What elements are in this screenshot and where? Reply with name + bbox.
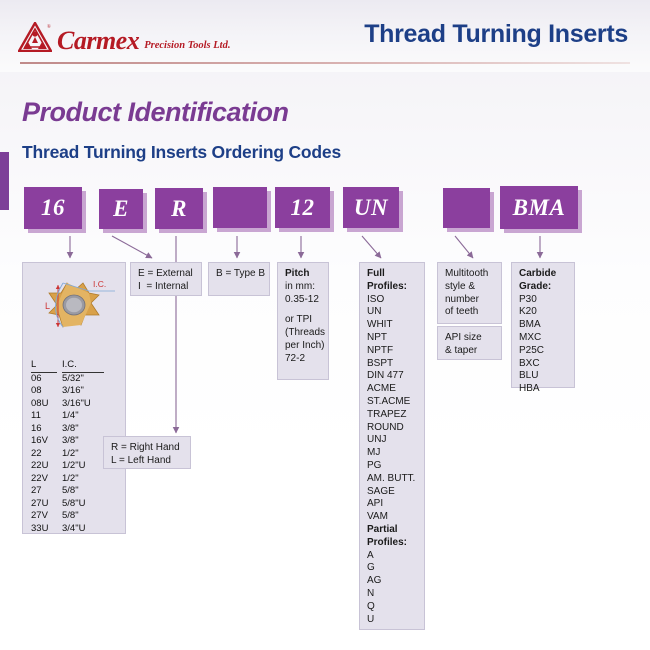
- full-profile-item: UNJ: [367, 434, 418, 447]
- pitch-title: Pitch: [285, 268, 322, 281]
- typeb-line: B = Type B: [216, 268, 263, 281]
- full-profile-item: ISO: [367, 294, 418, 307]
- code-box-profile[interactable]: UN: [343, 187, 399, 228]
- size-table-cell-l: 11: [31, 410, 62, 423]
- carmex-triangle-logo-icon: ®: [18, 22, 52, 52]
- size-table-cell-l: 22V: [31, 473, 62, 486]
- full-profile-item: PG: [367, 460, 418, 473]
- size-table-cell-ic: 3/8": [62, 423, 114, 436]
- profiles-title-partial-1: Partial: [367, 524, 418, 537]
- hand-line-right: R = Right Hand: [111, 442, 184, 455]
- hand-line-left: L = Left Hand: [111, 455, 184, 468]
- section-title-product-identification: Product Identification: [22, 97, 289, 128]
- size-table-row: 27V5/8": [31, 510, 121, 523]
- size-table-cell-l: 08: [31, 385, 62, 398]
- full-profile-item: ST.ACME: [367, 396, 418, 409]
- size-table-row: 22V1/2": [31, 473, 121, 486]
- size-table-cell-ic: 5/8"U: [62, 498, 114, 511]
- full-profile-item: NPTF: [367, 345, 418, 358]
- size-table-cell-ic: 3/4"U: [62, 523, 114, 536]
- size-table-row: 27U5/8"U: [31, 498, 121, 511]
- api-line-1: API size: [445, 332, 495, 345]
- code-box-size-label: 16: [41, 195, 65, 221]
- size-table-row: 163/8": [31, 423, 121, 436]
- size-table-cell-ic: 5/32": [62, 373, 114, 386]
- partial-profiles-list: AGAGNQU: [367, 550, 418, 627]
- partial-profile-item: N: [367, 588, 418, 601]
- size-table-cell-ic: 3/16": [62, 385, 114, 398]
- size-table-cell-l: 16V: [31, 435, 62, 448]
- code-box-grade-label: BMA: [513, 195, 566, 221]
- full-profile-item: API: [367, 498, 418, 511]
- size-table-cell-l: 27U: [31, 498, 62, 511]
- multitooth-line-3: number: [445, 294, 495, 307]
- grade-item: P25C: [519, 345, 568, 358]
- carmex-logo: ® Carmex Precision Tools Ltd.: [18, 22, 230, 54]
- partial-profile-item: A: [367, 550, 418, 563]
- size-table-cell-l: 16: [31, 423, 62, 436]
- size-table-header: L I.C.: [31, 359, 121, 372]
- type-line-internal: I = Internal: [138, 281, 195, 294]
- size-table-cell-ic: 1/4": [62, 410, 114, 423]
- detail-box-pitch: Pitch in mm: 0.35-12 or TPI (Threads per…: [277, 262, 329, 380]
- size-table-row: 08U3/16"U: [31, 398, 121, 411]
- pitch-line-perinch: per Inch): [285, 340, 322, 353]
- grade-item: P30: [519, 294, 568, 307]
- page-header: ® Carmex Precision Tools Ltd. Thread Tur…: [0, 0, 650, 72]
- size-table-cell-ic: 5/8": [62, 510, 114, 523]
- full-profile-item: MJ: [367, 447, 418, 460]
- type-line-external: E = External: [138, 268, 195, 281]
- size-table-cell-l: 33U: [31, 523, 62, 536]
- grade-item: MXC: [519, 332, 568, 345]
- size-table-col-ic: I.C.: [62, 359, 114, 372]
- full-profile-item: SAGE: [367, 486, 418, 499]
- partial-profile-item: U: [367, 614, 418, 627]
- code-box-type[interactable]: E: [99, 189, 143, 229]
- brand-tagline: Precision Tools Ltd.: [144, 41, 230, 52]
- svg-text:L: L: [45, 301, 50, 311]
- header-divider: [20, 62, 630, 64]
- pitch-line-mm: in mm:: [285, 281, 322, 294]
- profiles-title-partial-2: Profiles:: [367, 537, 418, 550]
- profiles-title-full-2: Profiles:: [367, 281, 418, 294]
- code-box-profile-label: UN: [354, 195, 388, 221]
- section-subtitle-ordering-codes: Thread Turning Inserts Ordering Codes: [22, 142, 341, 163]
- size-table-cell-ic: 3/16"U: [62, 398, 114, 411]
- multitooth-line-4: of teeth: [445, 306, 495, 319]
- pitch-line-range: 0.35-12: [285, 294, 322, 307]
- code-box-hand-label: R: [171, 196, 187, 222]
- svg-text:®: ®: [47, 24, 51, 30]
- size-table-row: 33U3/4"U: [31, 523, 121, 536]
- detail-box-typeb: B = Type B: [208, 262, 270, 296]
- size-table-cell-l: 06: [31, 373, 62, 386]
- full-profile-item: UN: [367, 306, 418, 319]
- grade-item: BMA: [519, 319, 568, 332]
- size-table-cell-l: 27: [31, 485, 62, 498]
- size-table-cell-ic: 1/2": [62, 473, 114, 486]
- svg-text:I.C.: I.C.: [93, 279, 106, 289]
- full-profile-item: BSPT: [367, 358, 418, 371]
- partial-profile-item: Q: [367, 601, 418, 614]
- size-table-row: 065/32": [31, 373, 121, 386]
- code-box-size[interactable]: 16: [24, 187, 82, 229]
- full-profiles-list: ISOUNWHITNPTNPTFBSPTDIN 477ACMEST.ACMETR…: [367, 294, 418, 524]
- full-profile-item: TRAPEZ: [367, 409, 418, 422]
- detail-box-grade: Carbide Grade: P30K20BMAMXCP25CBXCBLUHBA: [511, 262, 575, 388]
- multitooth-line-2: style &: [445, 281, 495, 294]
- size-table-row: 111/4": [31, 410, 121, 423]
- size-table-row: 083/16": [31, 385, 121, 398]
- page-title: Thread Turning Inserts: [364, 20, 628, 49]
- code-box-pitch[interactable]: 12: [275, 187, 330, 228]
- code-box-hand[interactable]: R: [155, 188, 203, 229]
- full-profile-item: AM. BUTT.: [367, 473, 418, 486]
- code-box-grade[interactable]: BMA: [500, 186, 578, 229]
- full-profile-item: DIN 477: [367, 370, 418, 383]
- grade-item: K20: [519, 306, 568, 319]
- grade-item: HBA: [519, 383, 568, 396]
- size-table-cell-l: 27V: [31, 510, 62, 523]
- grade-title-2: Grade:: [519, 281, 568, 294]
- grade-item: BXC: [519, 358, 568, 371]
- code-box-pitch-label: 12: [291, 195, 315, 221]
- size-table-cell-l: 22: [31, 448, 62, 461]
- partial-profile-item: AG: [367, 575, 418, 588]
- pitch-line-tpi: or TPI: [285, 314, 322, 327]
- pitch-line-threads: (Threads: [285, 327, 322, 340]
- size-table-col-l: L: [31, 359, 62, 372]
- multitooth-line-1: Multitooth: [445, 268, 495, 281]
- brand-name: Carmex: [57, 28, 139, 54]
- full-profile-item: ROUND: [367, 422, 418, 435]
- detail-box-type: E = External I = Internal: [130, 262, 202, 296]
- size-table-row: 275/8": [31, 485, 121, 498]
- insert-figure-icon: L I.C.: [23, 263, 127, 355]
- detail-box-hand: R = Right Hand L = Left Hand: [103, 436, 191, 469]
- profiles-title-full-1: Full: [367, 268, 418, 281]
- code-box-blank-1[interactable]: [213, 187, 267, 228]
- grade-item: BLU: [519, 370, 568, 383]
- size-table-cell-l: 08U: [31, 398, 62, 411]
- purple-accent-bar: [0, 152, 9, 210]
- full-profile-item: VAM: [367, 511, 418, 524]
- detail-box-api: API size & taper: [437, 326, 502, 360]
- api-line-2: & taper: [445, 345, 495, 358]
- size-table-cell-ic: 5/8": [62, 485, 114, 498]
- detail-box-profiles: Full Profiles: ISOUNWHITNPTNPTFBSPTDIN 4…: [359, 262, 425, 630]
- code-box-blank-2[interactable]: [443, 188, 490, 228]
- size-table-cell-l: 22U: [31, 460, 62, 473]
- grade-list: P30K20BMAMXCP25CBXCBLUHBA: [519, 294, 568, 396]
- grade-title-1: Carbide: [519, 268, 568, 281]
- full-profile-item: NPT: [367, 332, 418, 345]
- partial-profile-item: G: [367, 562, 418, 575]
- pitch-line-tpirange: 72-2: [285, 353, 322, 366]
- detail-box-size: L I.C. L I.C. 065/32"083/16"08U3/16"U111…: [22, 262, 126, 534]
- detail-box-multitooth: Multitooth style & number of teeth: [437, 262, 502, 324]
- full-profile-item: WHIT: [367, 319, 418, 332]
- code-box-type-label: E: [113, 196, 129, 222]
- full-profile-item: ACME: [367, 383, 418, 396]
